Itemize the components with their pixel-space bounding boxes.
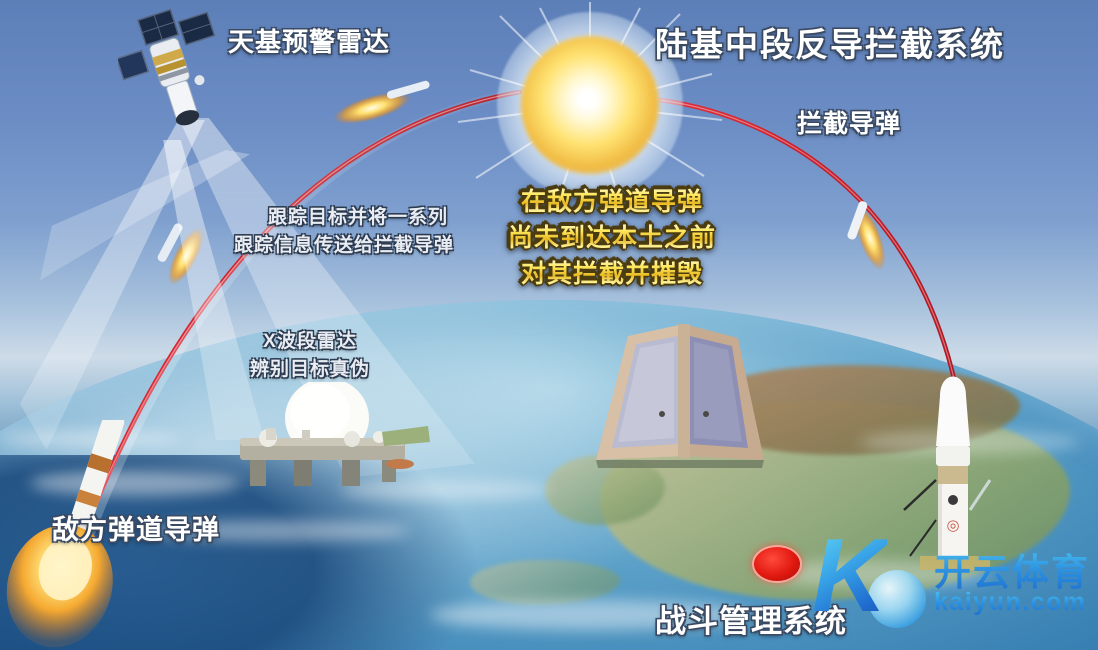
watermark: K 开云体育 kaiyun.com — [806, 532, 1096, 642]
watermark-url: kaiyun.com — [934, 588, 1087, 617]
label-tracking-note-line1: 跟踪目标并将一系列 — [248, 206, 468, 230]
red-location-marker-icon — [752, 545, 802, 583]
infographic-canvas: ◎ — [0, 0, 1098, 650]
label-space-based-early-warning-radar: 天基预警雷达 — [228, 26, 390, 59]
sea-based-xband-radar-icon — [232, 382, 432, 492]
page-title: 陆基中段反导拦截系统 — [655, 24, 1005, 66]
label-interceptor-missile: 拦截导弹 — [797, 108, 901, 140]
highlight-line3: 对其拦截并摧毁 — [508, 258, 716, 290]
label-enemy-ballistic-missile: 敌方弹道导弹 — [52, 513, 220, 548]
satellite-icon — [118, 8, 228, 138]
label-xband-radar-line1: X波段雷达 — [250, 330, 370, 354]
label-tracking-note: 跟踪目标并将一系列 跟踪信息传送给拦截导弹 — [248, 206, 468, 255]
label-xband-radar: X波段雷达 辨别目标真伪 — [250, 330, 370, 379]
label-tracking-note-line2: 跟踪信息传送给拦截导弹 — [234, 234, 454, 258]
highlight-line1: 在敌方弹道导弹 — [508, 186, 716, 218]
phased-array-radar-icon — [566, 318, 796, 478]
label-xband-radar-line2: 辨别目标真伪 — [250, 358, 370, 382]
watermark-logo-letter: K — [812, 524, 887, 628]
highlight-callout: 在敌方弹道导弹 尚未到达本土之前 对其拦截并摧毁 — [508, 186, 716, 282]
highlight-line2: 尚未到达本土之前 — [508, 222, 716, 254]
